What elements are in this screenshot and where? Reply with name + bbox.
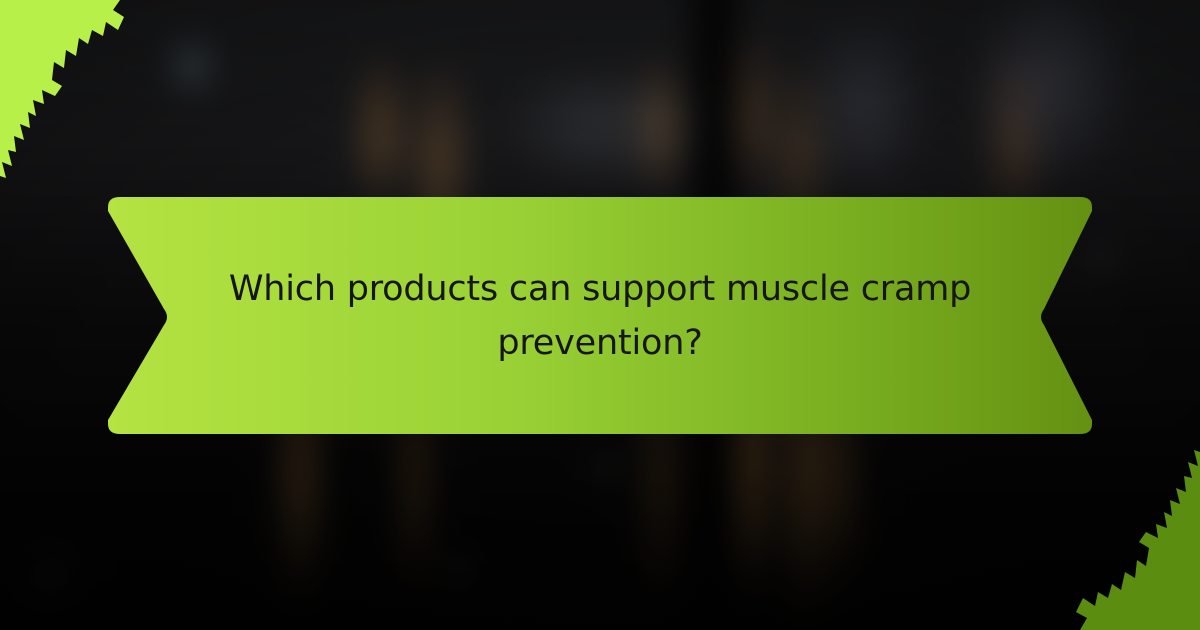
question-ribbon: Which products can support muscle cramp … [108,197,1092,434]
ribbon-shape [108,197,1092,434]
banner-canvas: Which products can support muscle cramp … [0,0,1200,630]
torn-corner-bottom-right-icon [1040,420,1200,630]
torn-corner-top-left-icon [0,0,150,200]
